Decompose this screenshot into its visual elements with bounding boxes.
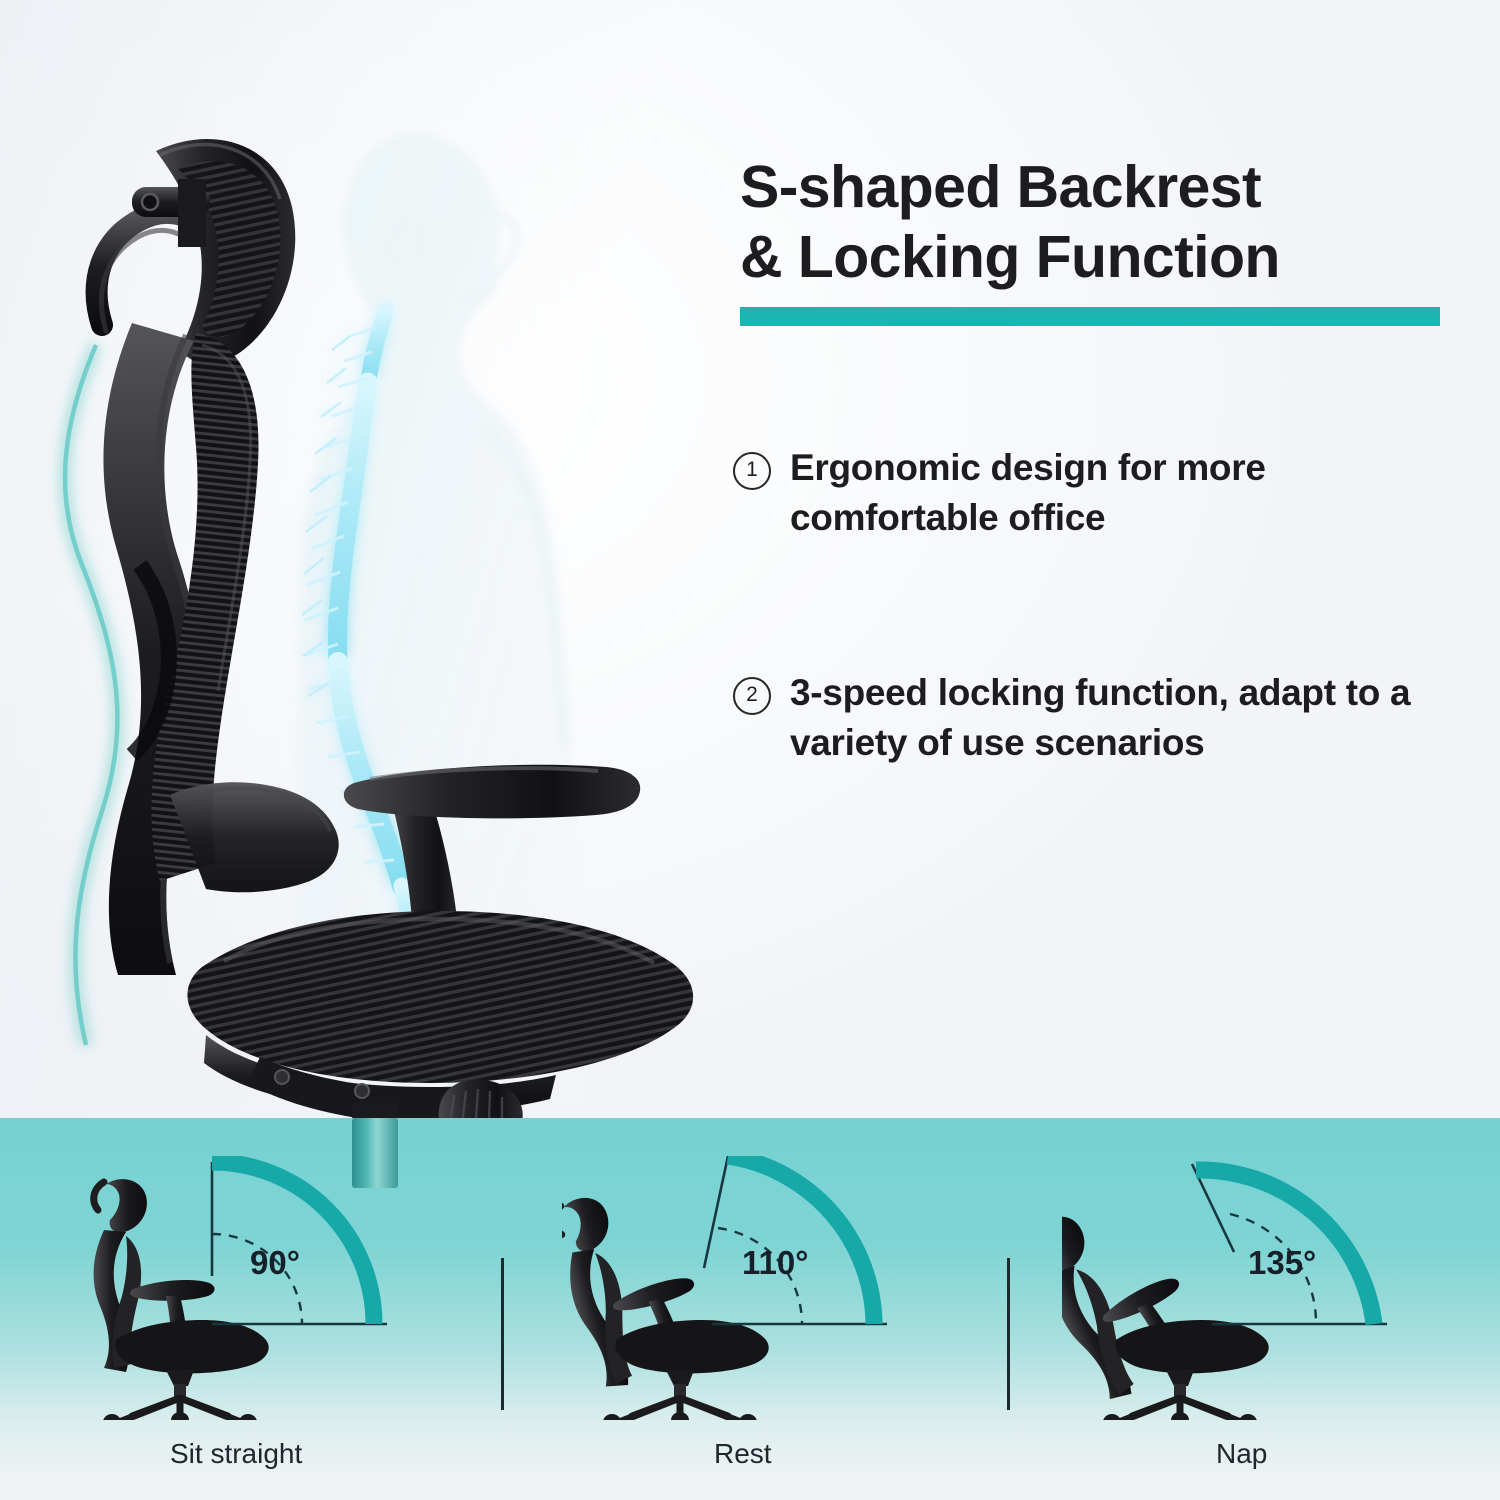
recline-positions-panel: 90° 110° 135° Sit straight Rest Nap	[0, 1118, 1500, 1500]
feature-number-1: 1	[733, 452, 771, 490]
position-caption-1: Sit straight	[170, 1438, 302, 1470]
feature-number-2: 2	[733, 677, 771, 715]
headline-underline	[740, 307, 1440, 326]
office-chair-illustration	[10, 95, 710, 1165]
angle-label-3: 135°	[1248, 1244, 1316, 1282]
feature-text-2: 3-speed locking function, adapt to a var…	[790, 668, 1453, 768]
angle-arc-1	[182, 1156, 432, 1401]
headline-line-2: & Locking Function	[740, 222, 1446, 292]
position-caption-3: Nap	[1216, 1438, 1267, 1470]
panel-divider-2	[1007, 1258, 1010, 1410]
product-feature-image: S-shaped Backrest & Locking Function 1 E…	[0, 0, 1500, 1500]
panel-divider-1	[501, 1258, 504, 1410]
angle-label-2: 110°	[742, 1244, 808, 1282]
position-caption-2: Rest	[714, 1438, 772, 1470]
feature-item-1: 1 Ergonomic design for more comfortable …	[733, 443, 1453, 543]
page-title: S-shaped Backrest & Locking Function	[740, 152, 1446, 292]
feature-text-1: Ergonomic design for more comfortable of…	[790, 443, 1453, 543]
headline-line-1: S-shaped Backrest	[740, 152, 1446, 222]
angle-label-1: 90°	[250, 1244, 300, 1282]
feature-item-2: 2 3-speed locking function, adapt to a v…	[733, 668, 1453, 768]
